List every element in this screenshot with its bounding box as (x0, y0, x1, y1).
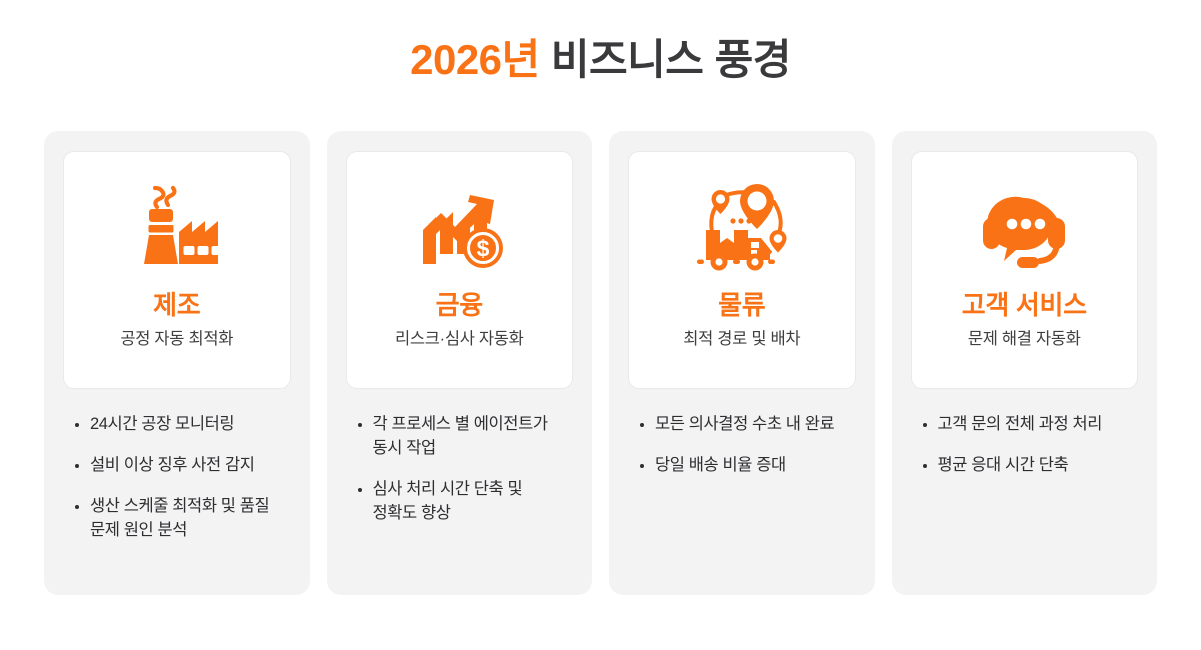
card-bullet-list: 24시간 공장 모니터링 설비 이상 징후 사전 감지 생산 스케줄 최적화 및… (63, 413, 291, 543)
list-item: 모든 의사결정 수초 내 완료 (638, 413, 852, 437)
card-bullet-list: 각 프로세스 별 에이전트가 동시 작업 심사 처리 시간 단축 및 정확도 향… (346, 413, 574, 526)
card-subtitle: 공정 자동 최적화 (120, 329, 233, 350)
card-bullet-list: 고객 문의 전체 과정 처리 평균 응대 시간 단축 (911, 413, 1139, 478)
card-header-panel: 제조 공정 자동 최적화 (63, 151, 291, 389)
factory-icon (125, 178, 229, 274)
delivery-truck-route-icon (690, 178, 794, 274)
list-item: 고객 문의 전체 과정 처리 (921, 413, 1135, 437)
card-subtitle: 최적 경로 및 배차 (683, 329, 800, 350)
list-item: 당일 배송 비율 증대 (638, 454, 852, 478)
list-item: 심사 처리 시간 단축 및 정확도 향상 (356, 478, 570, 526)
card-subtitle: 리스크·심사 자동화 (395, 329, 524, 350)
card-header-panel: 고객 서비스 문제 해결 자동화 (911, 151, 1139, 389)
card-logistics[interactable]: 물류 최적 경로 및 배차 모든 의사결정 수초 내 완료 당일 배송 비율 증… (609, 131, 875, 595)
card-customer-service[interactable]: 고객 서비스 문제 해결 자동화 고객 문의 전체 과정 처리 평균 응대 시간… (892, 131, 1158, 595)
svg-text:$: $ (477, 236, 490, 262)
list-item: 24시간 공장 모니터링 (73, 413, 287, 437)
card-finance[interactable]: $ 금융 리스크·심사 자동화 각 프로세스 별 에이전트가 동시 작업 심사 … (327, 131, 593, 595)
card-bullet-list: 모든 의사결정 수초 내 완료 당일 배송 비율 증대 (628, 413, 856, 478)
list-item: 평균 응대 시간 단축 (921, 454, 1135, 478)
list-item: 생산 스케줄 최적화 및 품질 문제 원인 분석 (73, 495, 287, 543)
card-title: 물류 (718, 290, 765, 321)
list-item: 설비 이상 징후 사전 감지 (73, 454, 287, 478)
card-manufacturing[interactable]: 제조 공정 자동 최적화 24시간 공장 모니터링 설비 이상 징후 사전 감지… (44, 131, 310, 595)
card-title: 고객 서비스 (962, 290, 1087, 321)
headset-chat-icon (972, 178, 1076, 274)
card-row: 제조 공정 자동 최적화 24시간 공장 모니터링 설비 이상 징후 사전 감지… (44, 131, 1157, 595)
page-title-accent: 2026년 (410, 36, 540, 83)
page-title-rest: 비즈니스 풍경 (551, 36, 791, 83)
card-subtitle: 문제 해결 자동화 (968, 329, 1081, 350)
card-header-panel: 물류 최적 경로 및 배차 (628, 151, 856, 389)
list-item: 각 프로세스 별 에이전트가 동시 작업 (356, 413, 570, 461)
card-header-panel: $ 금융 리스크·심사 자동화 (346, 151, 574, 389)
card-title: 금융 (436, 290, 483, 321)
page-title: 2026년 비즈니스 풍경 (0, 34, 1201, 87)
card-title: 제조 (153, 290, 200, 321)
growth-chart-dollar-icon: $ (407, 178, 511, 274)
infographic-page: 2026년 비즈니스 풍경 (0, 0, 1201, 650)
